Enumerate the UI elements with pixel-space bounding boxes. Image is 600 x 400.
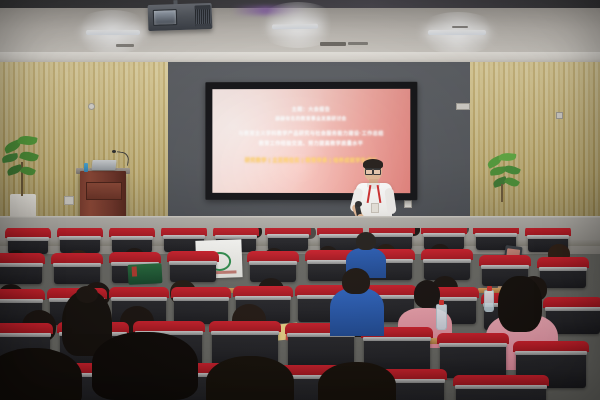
audience-head-foreground [92,332,198,400]
plant-leaf [504,175,520,189]
water-bottle [436,304,447,330]
audience-head-foreground [318,362,396,400]
slide-text-block: 主题：大会报告 赫赫有名的教育事业发展研讨会 与教育主义学科教学产品研究与社会服… [212,106,410,164]
slide-subtitle-line: 赫赫有名的教育事业发展研讨会 [275,116,346,122]
ceiling-speaker [320,42,346,46]
slide-title-line: 主题：大会报告 [292,106,331,113]
ceiling-projector [148,3,213,31]
glasses-icon [365,168,381,173]
plant-leaf [499,152,517,162]
potted-plant-right [487,152,529,206]
audience-head [498,276,542,332]
potted-plant-left [2,130,46,222]
microphone-head-icon [112,150,116,153]
fluorescent-tube-light [272,24,318,30]
bag-clasp [132,266,138,276]
water-bottle [484,290,494,312]
lectern-front-panel [86,182,122,200]
plant-leaf [503,163,521,176]
lanyard-badge [371,203,379,213]
plant-leaf [2,153,19,163]
fluorescent-tube-light [428,30,486,35]
audience-person-blue-shirt [330,288,384,336]
plant-trunk [501,184,503,202]
projector-lens [153,9,178,26]
wall-outlet [64,196,74,205]
audience-head [356,232,376,250]
auditorium-seat [0,258,42,284]
auditorium-seat [170,256,216,282]
ceiling-vent [348,42,368,45]
green-handbag [127,263,162,285]
auditorium-seat [54,258,100,284]
fluorescent-tube-light [86,30,140,35]
slide-body-line: 与教育主义学科教学产品研究与社会服务能力建设·工作总结 [239,130,384,137]
wall-switch-plate [456,103,470,110]
projector-vent-grill [195,5,212,27]
microphone-head-icon [355,201,362,207]
wall-marker [88,103,95,110]
auditorium-seat [540,262,586,288]
ceiling-vent [116,44,134,47]
bottle-on-lectern [84,163,88,172]
auditorium-seat [456,380,546,400]
laptop-on-lectern [91,160,116,170]
auditorium-seat [440,338,506,378]
wall-marker [556,112,563,119]
ceiling-vent [452,26,468,28]
audience-head-foreground [206,356,294,400]
audience-head [342,268,370,294]
hair-bun [76,286,98,303]
lecture-hall-photo: 主题：大会报告 赫赫有名的教育事业发展研讨会 与教育主义学科教学产品研究与社会服… [0,0,600,400]
wall-panel-left [168,62,198,222]
auditorium-seat [174,292,228,324]
plant-leaf [17,134,37,146]
wall-panel-right [430,62,470,222]
audience-seating [0,228,600,400]
slide-body-line: 教育工作经验交流、努力提高教学质量水平 [259,140,363,147]
wall-outlet [404,200,412,208]
